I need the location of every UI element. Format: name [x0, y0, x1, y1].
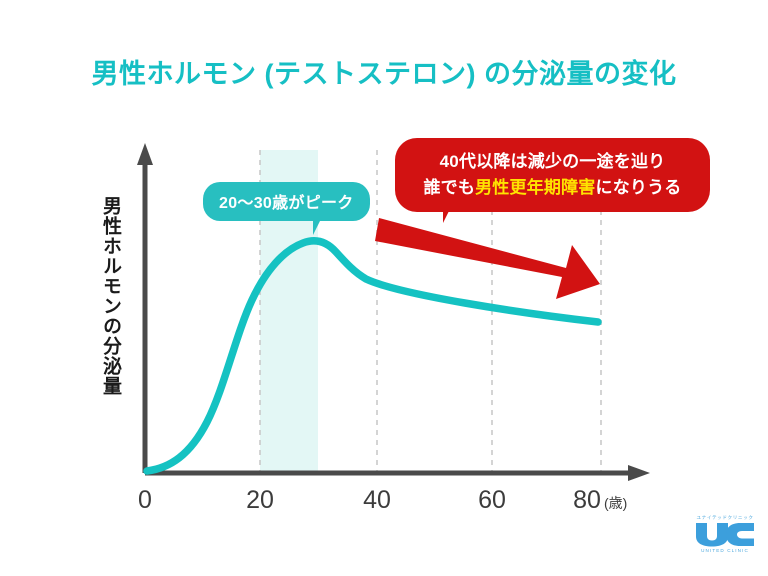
decline-callout: 40代以降は減少の一途を辿り 誰でも男性更年期障害になりうる	[395, 138, 710, 212]
y-axis-arrowhead	[137, 143, 153, 165]
peak-callout-tail	[313, 213, 333, 235]
decline-callout-line-2-post: になりうる	[596, 178, 682, 197]
x-tick-20: 20	[235, 486, 285, 515]
x-axis-unit-label: (歳)	[604, 493, 627, 513]
testosterone-curve	[147, 241, 598, 471]
logo-top-text: ユナイテッドクリニック	[693, 516, 757, 521]
x-tick-0: 0	[120, 486, 170, 515]
decline-callout-line-1: 40代以降は減少の一途を辿り	[395, 149, 710, 175]
peak-callout: 20〜30歳がピーク	[203, 182, 370, 221]
infographic-page: 男性ホルモン (テストステロン) の分泌量の変化 男性ホルモンの	[0, 0, 768, 576]
x-tick-60: 60	[467, 486, 517, 515]
y-axis-label: 男性ホルモンの分泌量	[84, 196, 120, 458]
logo-bottom-text: UNITED CLINIC	[693, 549, 757, 554]
x-axis-arrowhead	[628, 465, 650, 481]
decline-arrow	[375, 218, 600, 299]
decline-callout-tail	[443, 203, 464, 223]
decline-callout-line-2: 誰でも男性更年期障害になりうる	[395, 175, 710, 201]
decline-callout-line-2-pre: 誰でも	[423, 178, 475, 197]
chart-container: 男性ホルモンの分泌量 0 20 40 60 80 (歳)	[0, 0, 768, 576]
decline-callout-highlight: 男性更年期障害	[475, 178, 595, 197]
uc-logo-mark	[694, 522, 756, 547]
x-tick-40: 40	[352, 486, 402, 515]
clinic-logo: ユナイテッドクリニック UNITED CLINIC	[693, 516, 757, 562]
